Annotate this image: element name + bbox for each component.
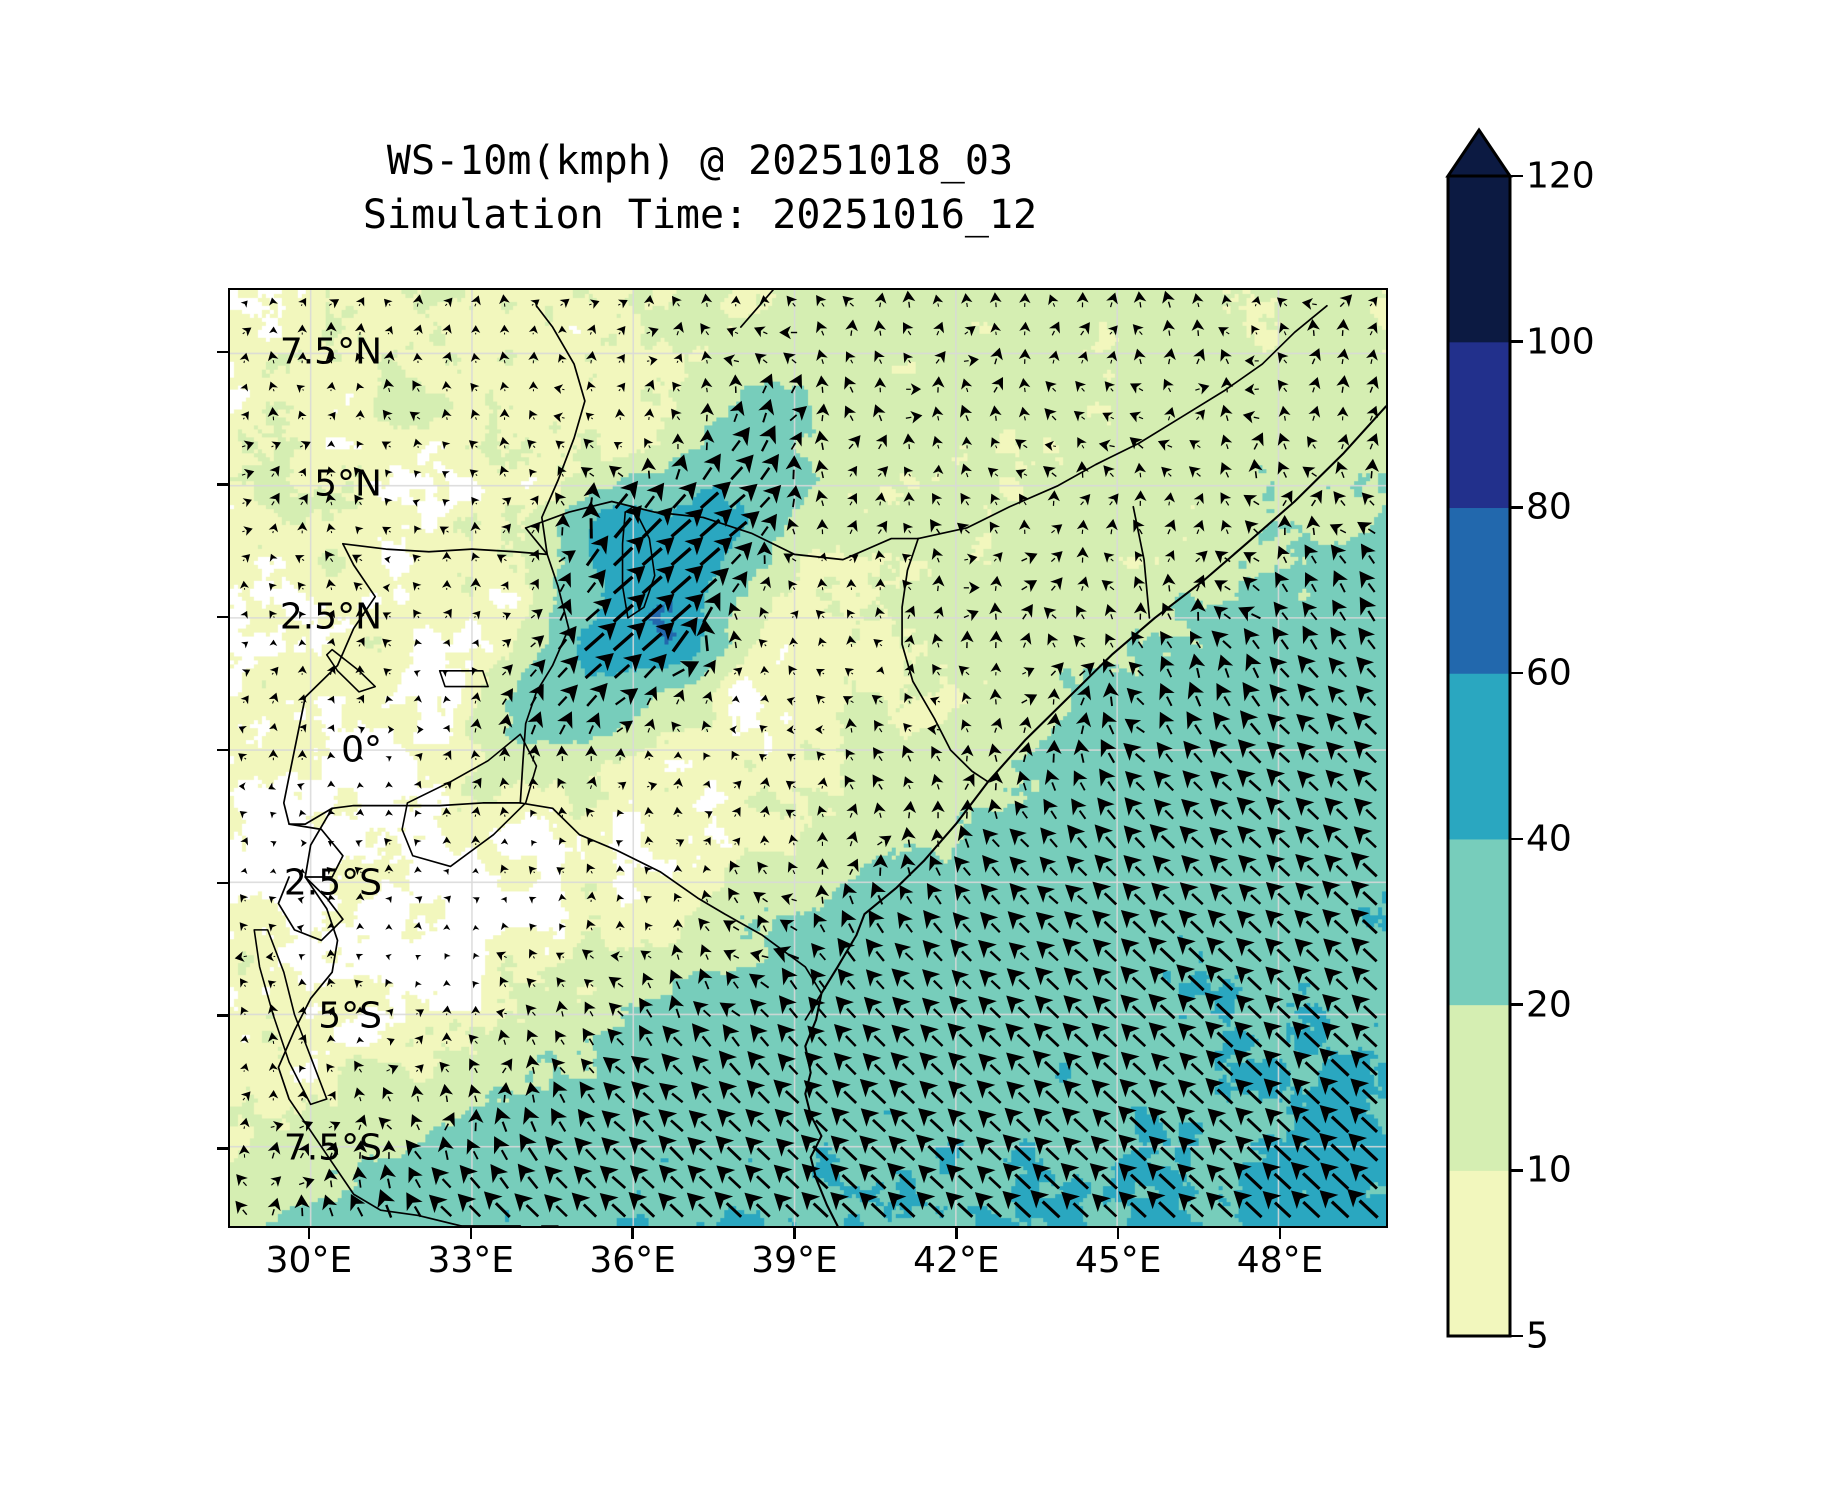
- colorbar-tickmark-20: [1510, 1003, 1523, 1006]
- lon-tickmark-3: [793, 1228, 795, 1239]
- colorbar-band-0: [1448, 1170, 1510, 1336]
- colorbar-tick-100: 100: [1526, 321, 1595, 362]
- lon-tick-2: 36°E: [589, 1240, 676, 1281]
- lon-tickmark-4: [955, 1228, 957, 1239]
- lon-tickmark-0: [308, 1228, 310, 1239]
- colorbar: [1448, 176, 1510, 1336]
- lon-tick-5: 45°E: [1075, 1240, 1162, 1281]
- colorbar-tick-5: 5: [1526, 1316, 1549, 1357]
- lat-tickmark-5: [217, 1014, 228, 1016]
- lon-tickmark-1: [470, 1228, 472, 1239]
- colorbar-tick-40: 40: [1526, 818, 1572, 859]
- lat-tick-1: 5°N: [314, 464, 382, 505]
- lat-tick-0: 7.5°N: [280, 331, 382, 372]
- lon-tickmark-2: [631, 1228, 633, 1239]
- lon-tickmark-6: [1279, 1228, 1281, 1239]
- title-line-1: WS-10m(kmph) @ 20251018_03: [0, 134, 1400, 188]
- colorbar-tick-120: 120: [1526, 156, 1595, 197]
- title-line-2: Simulation Time: 20251016_12: [0, 188, 1400, 242]
- lat-tickmark-1: [217, 483, 228, 485]
- colorbar-band-6: [1448, 176, 1510, 342]
- lat-tickmark-6: [217, 1147, 228, 1149]
- map-overlay-layer: [230, 290, 1386, 1226]
- lon-tick-3: 39°E: [751, 1240, 838, 1281]
- lon-tick-4: 42°E: [913, 1240, 1000, 1281]
- colorbar-band-2: [1448, 839, 1510, 1005]
- wind-quiver-arrows: [235, 291, 1379, 1218]
- lat-tick-4: 2.5°S: [284, 862, 382, 903]
- lat-tick-2: 2.5°N: [280, 597, 382, 638]
- lat-tickmark-3: [217, 749, 228, 751]
- colorbar-tickmark-120: [1510, 175, 1523, 178]
- lat-tick-3: 0°: [341, 730, 382, 771]
- colorbar-tickmark-80: [1510, 506, 1523, 509]
- lat-tickmark-4: [217, 882, 228, 884]
- colorbar-tickmark-5: [1510, 1335, 1523, 1338]
- colorbar-tickmark-10: [1510, 1169, 1523, 1172]
- lat-tick-6: 7.5°S: [284, 1128, 382, 1169]
- colorbar-tick-80: 80: [1526, 487, 1572, 528]
- colorbar-tick-10: 10: [1526, 1150, 1572, 1191]
- lat-tickmark-2: [217, 616, 228, 618]
- colorbar-tickmark-40: [1510, 838, 1523, 841]
- lon-tickmark-5: [1117, 1228, 1119, 1239]
- colorbar-tick-60: 60: [1526, 653, 1572, 694]
- colorbar-band-5: [1448, 342, 1510, 508]
- colorbar-tickmark-60: [1510, 672, 1523, 675]
- colorbar-tick-20: 20: [1526, 984, 1572, 1025]
- lon-tick-1: 33°E: [428, 1240, 515, 1281]
- map-plot-area: [228, 288, 1388, 1228]
- lon-tick-6: 48°E: [1237, 1240, 1324, 1281]
- colorbar-band-1: [1448, 1005, 1510, 1171]
- chart-title: WS-10m(kmph) @ 20251018_03 Simulation Ti…: [0, 134, 1400, 242]
- colorbar-extend-arrow: [1448, 130, 1510, 176]
- colorbar-tickmark-100: [1510, 340, 1523, 343]
- colorbar-gradient: [1448, 176, 1510, 1336]
- lat-tick-5: 5°S: [318, 995, 382, 1036]
- lat-tickmark-0: [217, 351, 228, 353]
- colorbar-band-4: [1448, 507, 1510, 673]
- lon-tick-0: 30°E: [266, 1240, 353, 1281]
- colorbar-band-3: [1448, 673, 1510, 839]
